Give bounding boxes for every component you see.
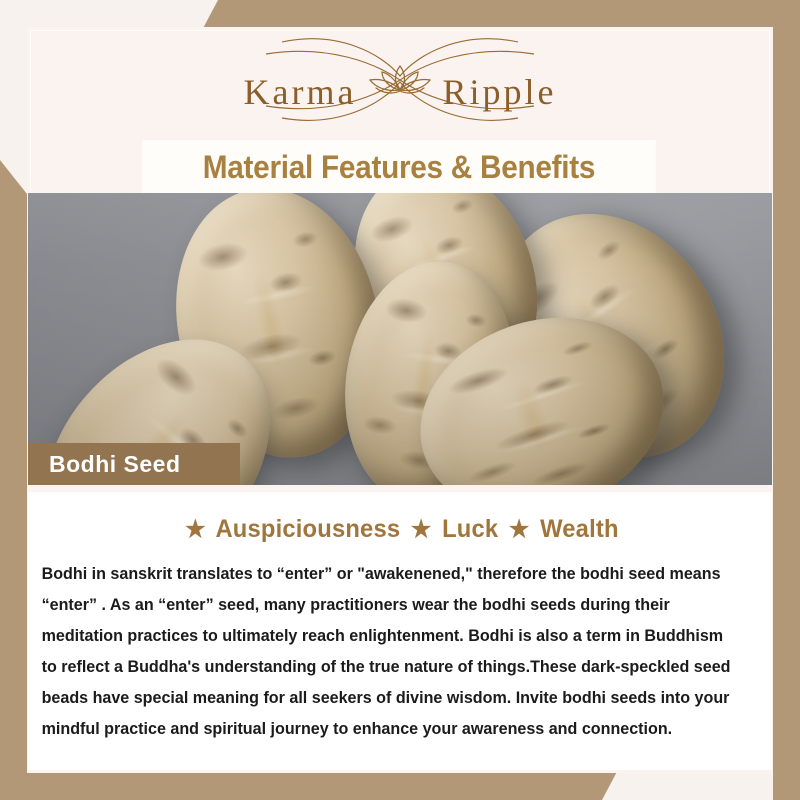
brand-logo: Karma Ripple: [0, 30, 800, 130]
star-icon: ★: [407, 516, 435, 543]
product-photo: [28, 193, 772, 485]
page-title: Material Features & Benefits: [203, 149, 595, 186]
title-banner: Material Features & Benefits: [143, 141, 655, 193]
keyword-row: ★ Auspiciousness ★ Luck ★ Wealth: [47, 492, 754, 544]
lotus-icon: [170, 32, 630, 128]
keyword-wealth: Wealth: [540, 515, 619, 543]
description-panel: ★ Auspiciousness ★ Luck ★ Wealth Bodhi i…: [28, 492, 772, 770]
infographic-page: Karma Ripple Material Features & Benefit…: [0, 0, 800, 800]
star-icon: ★: [505, 516, 533, 543]
description-text: Bodhi in sanskrit translates to “enter” …: [28, 544, 750, 744]
keyword-auspiciousness: Auspiciousness: [215, 515, 400, 543]
photo-caption-tab: Bodhi Seed: [28, 443, 240, 485]
photo-caption-label: Bodhi Seed: [28, 451, 181, 478]
keyword-luck: Luck: [442, 515, 498, 543]
star-icon: ★: [181, 516, 209, 543]
decorative-band-left: [0, 160, 27, 800]
